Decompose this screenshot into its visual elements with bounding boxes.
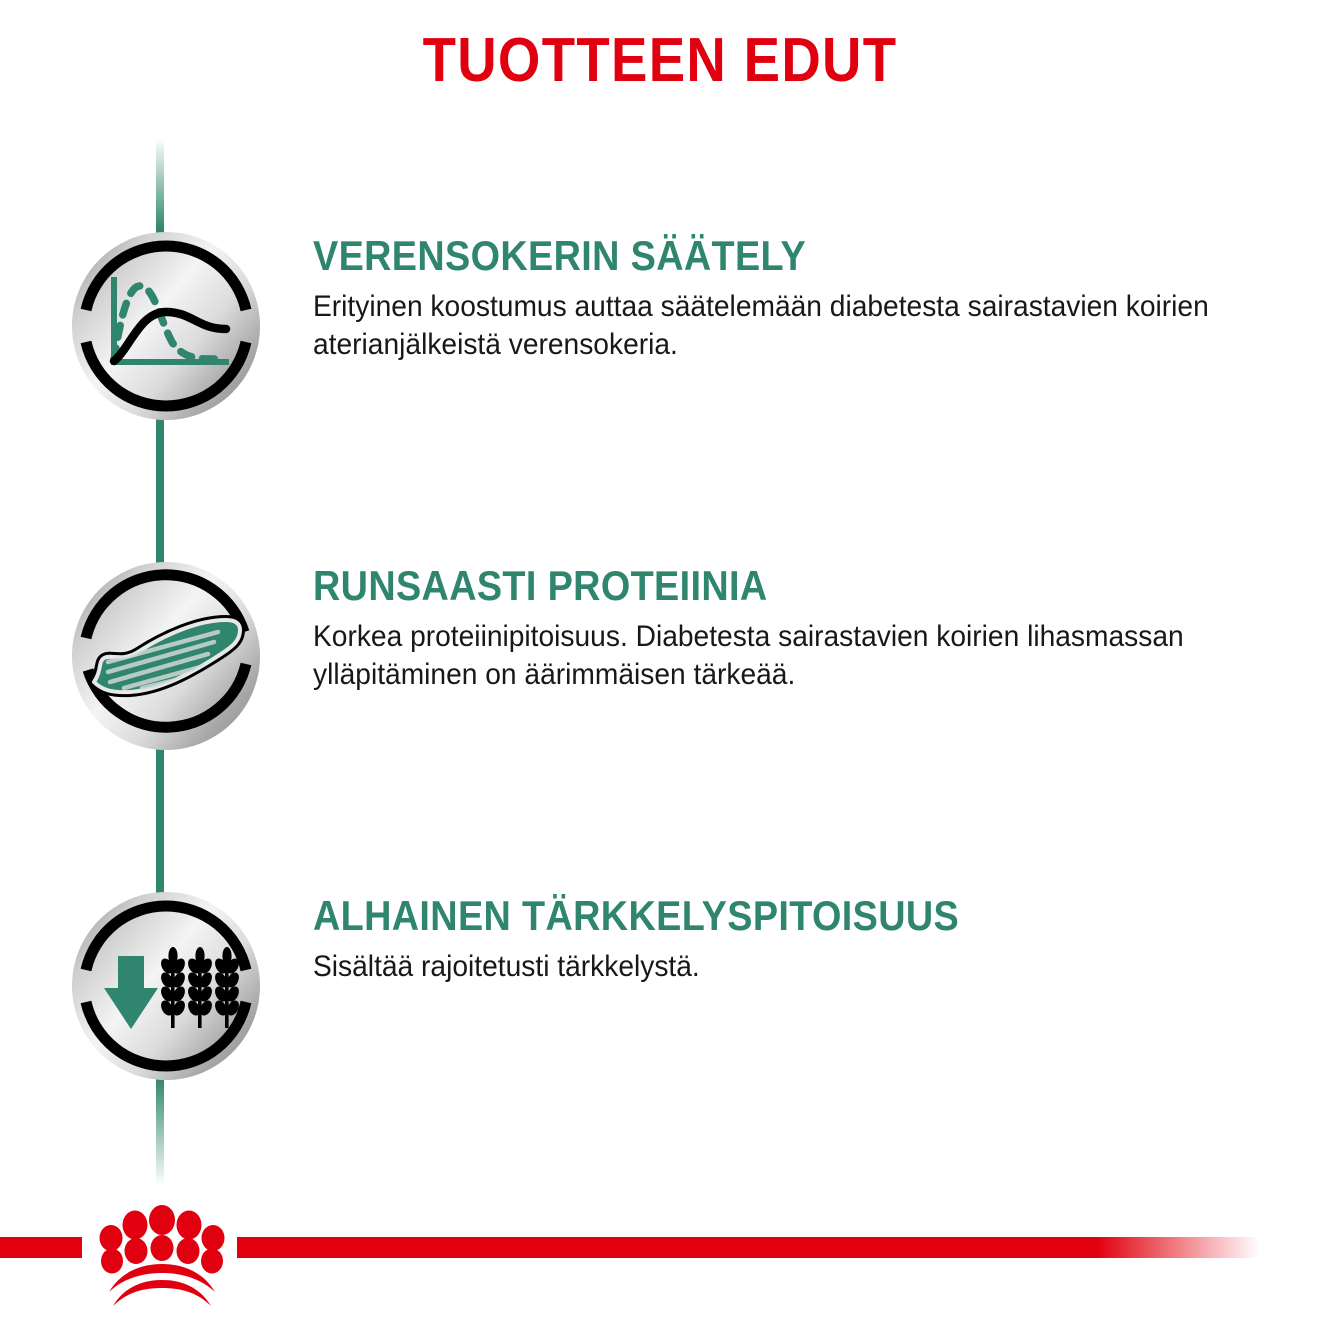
benefit-title: VERENSOKERIN SÄÄTELY bbox=[313, 234, 1182, 279]
low-starch-wheat-down-arrow-icon bbox=[68, 888, 264, 1084]
benefit-text-block: VERENSOKERIN SÄÄTELY Erityinen koostumus… bbox=[313, 234, 1278, 364]
benefit-description: Erityinen koostumus auttaa säätelemään d… bbox=[313, 288, 1235, 364]
benefit-title: RUNSAASTI PROTEIINIA bbox=[313, 564, 1182, 609]
blood-glucose-curve-icon bbox=[68, 228, 264, 424]
page-title: TUOTTEEN EDUT bbox=[79, 30, 1241, 92]
benefit-text-block: ALHAINEN TÄRKKELYSPITOISUUS Sisältää raj… bbox=[313, 894, 1278, 986]
benefit-description: Sisältää rajoitetusti tärkkelystä. bbox=[313, 948, 1235, 986]
benefit-item-high-protein: RUNSAASTI PROTEIINIA Korkea proteiinipit… bbox=[0, 558, 1320, 758]
muscle-fiber-icon bbox=[68, 558, 264, 754]
royal-canin-crown-icon bbox=[92, 1196, 232, 1308]
benefit-item-low-starch: ALHAINEN TÄRKKELYSPITOISUUS Sisältää raj… bbox=[0, 888, 1320, 1088]
footer-bar-right bbox=[237, 1237, 1260, 1258]
benefit-text-block: RUNSAASTI PROTEIINIA Korkea proteiinipit… bbox=[313, 564, 1278, 694]
footer-bar-left bbox=[0, 1237, 82, 1258]
benefit-title: ALHAINEN TÄRKKELYSPITOISUUS bbox=[313, 894, 1182, 939]
benefit-item-blood-glucose: VERENSOKERIN SÄÄTELY Erityinen koostumus… bbox=[0, 228, 1320, 428]
benefit-description: Korkea proteiinipitoisuus. Diabetesta sa… bbox=[313, 618, 1235, 694]
